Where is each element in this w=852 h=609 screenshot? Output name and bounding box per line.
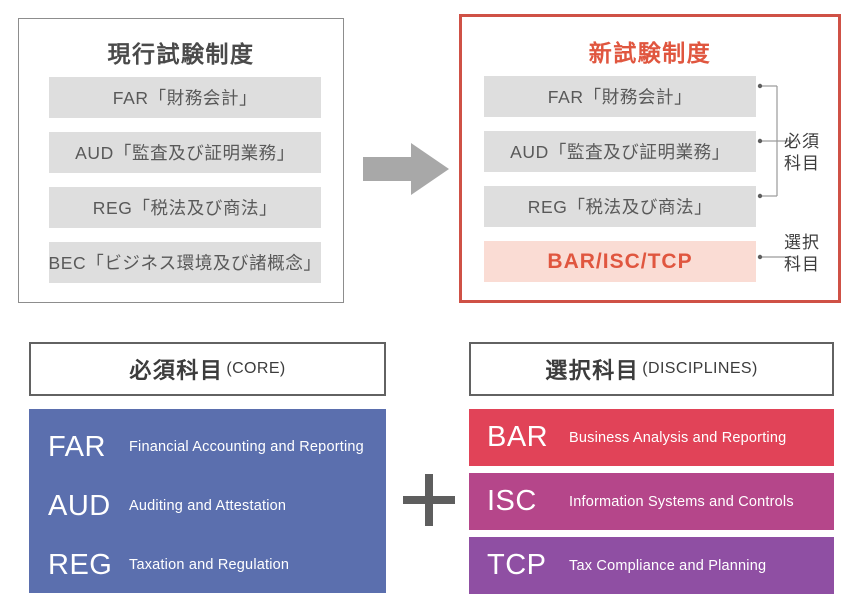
core-desc-aud: Auditing and Attestation: [129, 498, 286, 514]
core-desc-far: Financial Accounting and Reporting: [129, 439, 364, 455]
current-exam-system-panel: 現行試験制度 FAR「財務会計」 AUD「監査及び証明業務」 REG「税法及び商…: [18, 18, 344, 303]
elective-subjects-label: 選択 科目: [784, 232, 820, 276]
new-system-title: 新試験制度: [462, 34, 838, 68]
disciplines-header-en: (DISCIPLINES): [642, 360, 757, 378]
core-subjects-block: FAR Financial Accounting and Reporting A…: [29, 409, 386, 593]
discipline-code-isc: ISC: [469, 485, 569, 518]
discipline-item-bar: BAR Business Analysis and Reporting: [469, 409, 834, 466]
exam-system-comparison-diagram: 現行試験制度 FAR「財務会計」 AUD「監査及び証明業務」 REG「税法及び商…: [0, 0, 852, 609]
transition-arrow-container: [363, 143, 449, 195]
current-subject-reg: REG「税法及び商法」: [49, 187, 321, 228]
current-subject-aud: AUD「監査及び証明業務」: [49, 132, 321, 173]
new-subject-far: FAR「財務会計」: [484, 76, 756, 117]
core-item-reg: REG Taxation and Regulation: [29, 541, 386, 589]
core-section-header: 必須科目 (CORE): [29, 342, 386, 396]
core-item-aud: AUD Auditing and Attestation: [29, 482, 386, 530]
current-subject-bec: BEC「ビジネス環境及び諸概念」: [49, 242, 321, 283]
core-code-reg: REG: [29, 549, 129, 582]
core-desc-reg: Taxation and Regulation: [129, 557, 289, 573]
new-subject-reg: REG「税法及び商法」: [484, 186, 756, 227]
discipline-item-isc: ISC Information Systems and Controls: [469, 473, 834, 530]
plus-sign-container: [403, 474, 455, 526]
disciplines-header-jp: 選択科目: [545, 353, 639, 385]
arrow-right-icon: [363, 143, 449, 195]
new-subject-disciplines: BAR/ISC/TCP: [484, 241, 756, 282]
disciplines-section-header: 選択科目 (DISCIPLINES): [469, 342, 834, 396]
core-header-jp: 必須科目: [129, 353, 223, 385]
required-subjects-label: 必須 科目: [784, 131, 820, 175]
discipline-code-bar: BAR: [469, 421, 569, 454]
new-subject-aud: AUD「監査及び証明業務」: [484, 131, 756, 172]
plus-icon: [403, 474, 455, 526]
discipline-desc-isc: Information Systems and Controls: [569, 494, 794, 510]
discipline-desc-tcp: Tax Compliance and Planning: [569, 558, 766, 574]
discipline-desc-bar: Business Analysis and Reporting: [569, 430, 786, 446]
core-item-far: FAR Financial Accounting and Reporting: [29, 423, 386, 471]
current-system-title: 現行試験制度: [19, 35, 343, 69]
discipline-item-tcp: TCP Tax Compliance and Planning: [469, 537, 834, 594]
current-subject-far: FAR「財務会計」: [49, 77, 321, 118]
core-header-en: (CORE): [226, 360, 285, 378]
discipline-code-tcp: TCP: [469, 549, 569, 582]
core-code-aud: AUD: [29, 490, 129, 523]
core-code-far: FAR: [29, 431, 129, 464]
